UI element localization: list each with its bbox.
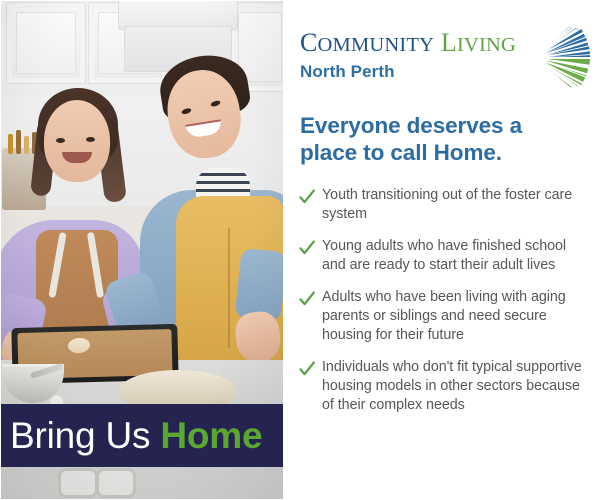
eligibility-list: Youth transitioning out of the foster ca… [297,186,589,428]
girl-face [44,100,110,182]
utensil [8,134,13,154]
eye [210,100,221,108]
headline-line-1: Everyone deserves a [300,113,522,138]
logo-subtitle: North Perth [300,61,516,83]
banner-text-green: Home [160,415,262,456]
banner-text-white: Bring Us [10,415,150,456]
list-item-label: Individuals who don't fit typical suppor… [322,358,589,415]
list-item-label: Young adults who have finished school an… [322,237,589,275]
logo-word-living: LIVING [441,28,516,57]
banner-text: Bring Us Home [0,417,262,454]
list-item-label: Adults who have been living with aging p… [322,288,589,345]
logo-wordmark: COMMUNITY LIVING North Perth [300,28,516,83]
cabinet-door [6,2,86,84]
list-item: Individuals who don't fit typical suppor… [297,358,589,415]
utensil [16,130,21,154]
organization-logo: COMMUNITY LIVING North Perth [300,28,585,90]
eye [56,138,65,143]
photo-panel: Bring Us Home [0,0,283,500]
eye [86,137,95,142]
check-icon [297,359,317,379]
apron-seam [228,228,230,348]
list-item: Youth transitioning out of the foster ca… [297,186,589,224]
check-icon [297,187,317,207]
headline-line-2: place to call Home. [300,140,502,165]
cookie-cutter [58,468,98,498]
utensil [24,136,29,154]
check-icon [297,289,317,309]
list-item: Young adults who have finished school an… [297,237,589,275]
poster-graphic: Bring Us Home COMMUNITY LIVING North Per… [0,0,600,500]
check-icon [297,238,317,258]
diamond-rays-logo-icon [531,26,593,90]
cookie-cutter [96,468,136,498]
content-panel: COMMUNITY LIVING North Perth [283,0,600,500]
list-item-label: Youth transitioning out of the foster ca… [322,186,589,224]
eye [181,107,192,115]
logo-title: COMMUNITY LIVING [300,28,516,60]
logo-word-community: COMMUNITY [300,28,434,57]
list-item: Adults who have been living with aging p… [297,288,589,345]
page-title: Everyone deserves a place to call Home. [300,112,580,166]
bring-us-home-banner: Bring Us Home [0,404,283,467]
